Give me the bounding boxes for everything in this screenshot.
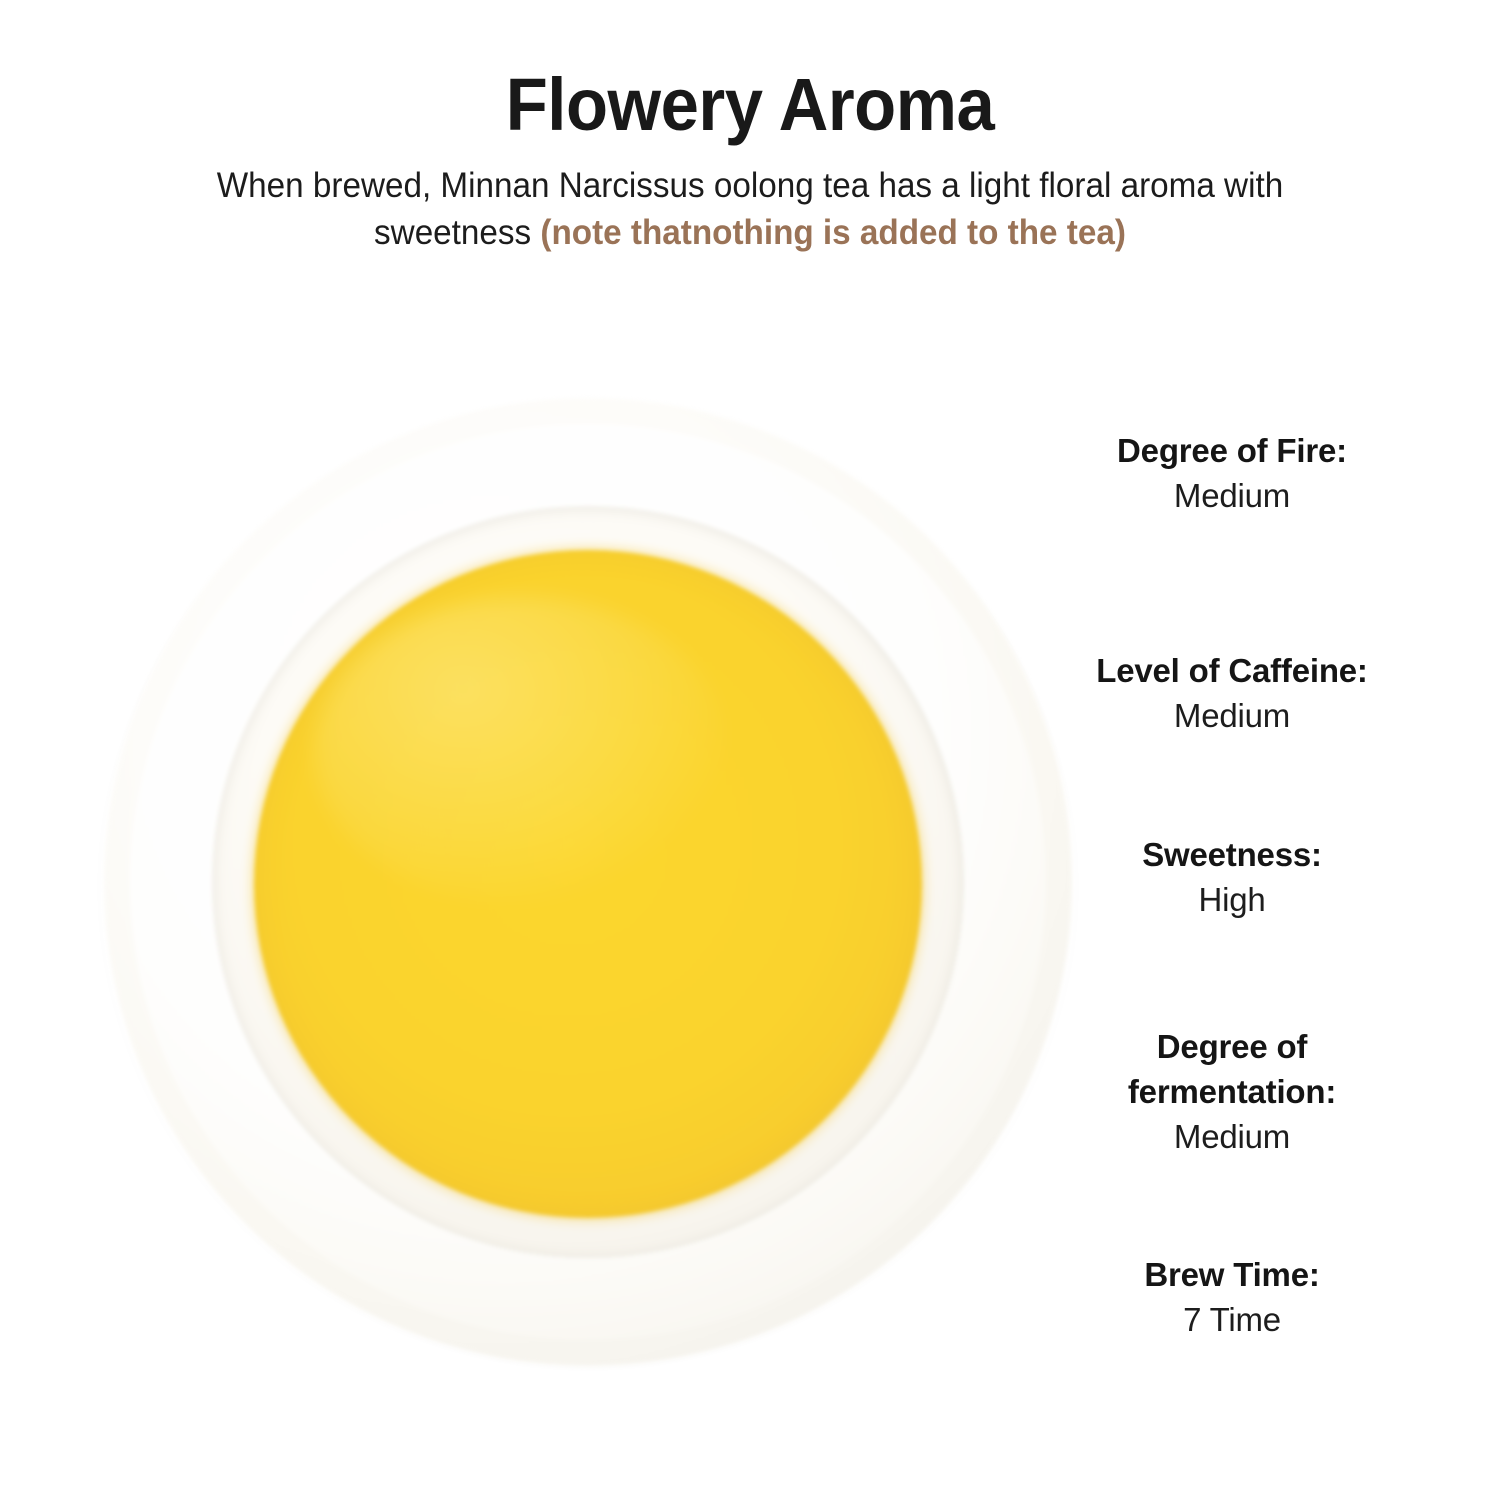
- attribute-sweetness: Sweetness: High: [1052, 832, 1412, 922]
- attribute-value: High: [1052, 877, 1412, 922]
- page-title: Flowery Aroma: [53, 0, 1448, 148]
- attribute-label: Brew Time:: [1052, 1252, 1412, 1297]
- attribute-brew-time: Brew Time: 7 Time: [1052, 1252, 1412, 1342]
- attribute-label: Degree of fermentation:: [1052, 1024, 1412, 1114]
- attribute-value: Medium: [1052, 693, 1412, 738]
- attribute-value: Medium: [1052, 473, 1412, 518]
- attribute-label: Level of Caffeine:: [1052, 648, 1412, 693]
- subtitle-note-text: (note thatnothing is added to the tea): [540, 213, 1126, 252]
- infographic-page: Flowery Aroma When brewed, Minnan Narcis…: [0, 0, 1500, 1500]
- attribute-label: Sweetness:: [1052, 832, 1412, 877]
- tea-surface-sheen: [314, 597, 728, 904]
- teacup-image: [104, 398, 1072, 1366]
- header: Flowery Aroma When brewed, Minnan Narcis…: [0, 0, 1500, 256]
- attribute-label: Degree of Fire:: [1052, 428, 1412, 473]
- attribute-value: Medium: [1052, 1114, 1412, 1159]
- attribute-level-of-caffeine: Level of Caffeine: Medium: [1052, 648, 1412, 738]
- tea-liquid: [254, 550, 922, 1218]
- attribute-value: 7 Time: [1052, 1297, 1412, 1342]
- subtitle: When brewed, Minnan Narcissus oolong tea…: [190, 148, 1311, 256]
- attribute-degree-of-fire: Degree of Fire: Medium: [1052, 428, 1412, 518]
- attribute-degree-of-fermentation: Degree of fermentation: Medium: [1052, 1024, 1412, 1159]
